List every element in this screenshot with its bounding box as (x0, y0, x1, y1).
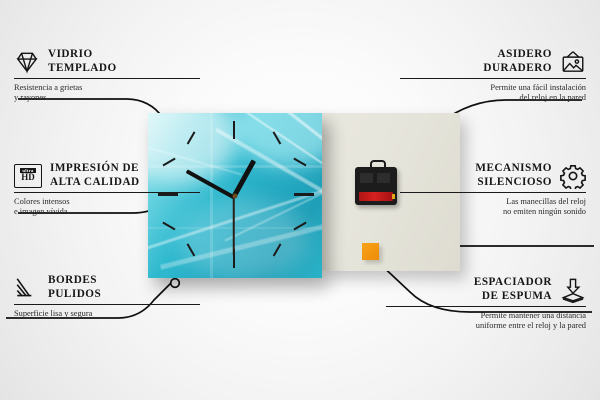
feature-desc: Colores intensos (14, 197, 200, 207)
feature-desc-2: no emiten ningún sonido (400, 207, 586, 217)
hands-hub (233, 193, 238, 198)
feature-title: VIDRIO (48, 48, 117, 62)
feature-desc-2: y rayones (14, 93, 200, 103)
foam-spacer (362, 243, 379, 260)
feature-title-2: DE ESPUMA (474, 290, 552, 304)
feature-desc-2: e imagen vívida (14, 207, 200, 217)
tick-3 (294, 193, 314, 196)
feature-desc: Las manecillas del reloj (400, 197, 586, 207)
feature-title-2: PULIDOS (48, 288, 101, 302)
feature-title: ESPACIADOR (474, 276, 552, 290)
battery (359, 192, 393, 201)
feature-title: ASIDERO (483, 48, 552, 62)
feature-desc: Resistencia a grietas (14, 83, 200, 93)
divider (14, 304, 200, 305)
feature-title-2: SILENCIOSO (475, 176, 552, 190)
hanger-hook-icon (370, 160, 386, 171)
wall-hanger-frame-icon (560, 49, 586, 75)
polished-edges-icon (14, 275, 40, 301)
quartz-clock-mechanism (355, 167, 397, 205)
divider (400, 78, 586, 79)
diamond-icon (14, 49, 40, 75)
feature-title: MECANISMO (475, 162, 552, 176)
feature-desc: Permite una fácil instalación (400, 83, 586, 93)
feature-espaciador-de-espuma: ESPACIADOR DE ESPUMA Permite mantener un… (386, 276, 586, 331)
ultra-hd-icon: ultra HD (14, 164, 42, 188)
ultra-hd-badge-large: HD (21, 173, 35, 183)
feature-impresion-alta-calidad: ultra HD IMPRESIÓN DE ALTA CALIDAD Color… (14, 162, 200, 217)
divider (386, 306, 586, 307)
feature-title: BORDES (48, 274, 101, 288)
feature-desc: Permite mantener una distancia (386, 311, 586, 321)
feature-title: IMPRESIÓN DE (50, 162, 140, 176)
feature-desc-2: uniforme entre el reloj y la pared (386, 321, 586, 331)
feature-asidero-duradero: ASIDERO DURADERO Permite una fácil insta… (400, 48, 586, 103)
infographic-canvas: VIDRIO TEMPLADO Resistencia a grietas y … (0, 0, 600, 400)
feature-desc: Superficie lisa y segura (14, 309, 200, 319)
tick-12 (233, 121, 235, 139)
second-hand (233, 196, 235, 256)
gear-icon (560, 163, 586, 189)
divider (14, 192, 200, 193)
arrow-down-layers-icon (560, 277, 586, 303)
feature-bordes-pulidos: BORDES PULIDOS Superficie lisa y segura (14, 274, 200, 319)
feature-vidrio-templado: VIDRIO TEMPLADO Resistencia a grietas y … (14, 48, 200, 103)
feature-title-2: DURADERO (483, 62, 552, 76)
feature-desc-2: del reloj en la pared (400, 93, 586, 103)
divider (400, 192, 586, 193)
feature-title-2: ALTA CALIDAD (50, 176, 140, 190)
feature-mecanismo-silencioso: MECANISMO SILENCIOSO Las manecillas del … (400, 162, 586, 217)
feature-title-2: TEMPLADO (48, 62, 117, 76)
divider (14, 78, 200, 79)
